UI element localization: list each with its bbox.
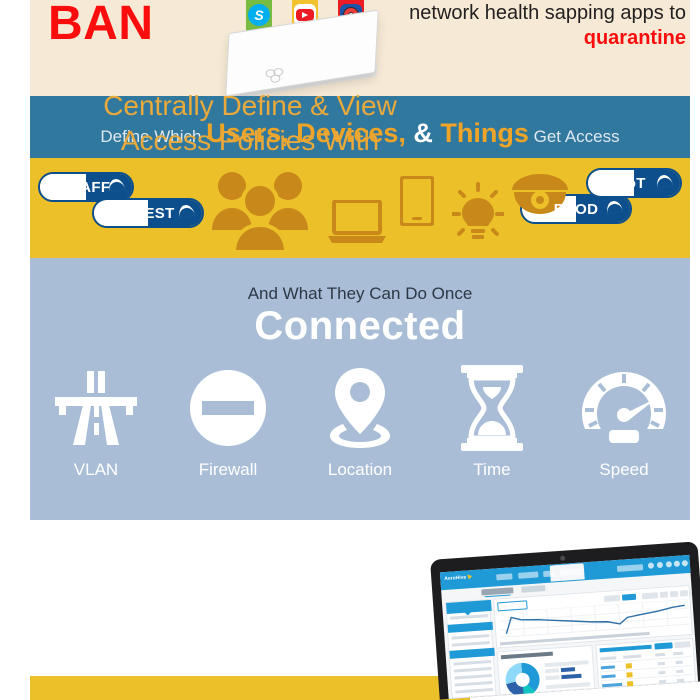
col-header-users [673, 652, 683, 656]
highway-icon [36, 358, 156, 458]
range-7d[interactable] [680, 590, 688, 597]
top-applications-card [595, 638, 696, 689]
bottom-headline-line2: Access Policies With [40, 123, 460, 158]
legend-label [545, 668, 559, 673]
hourglass-icon [432, 358, 552, 458]
map-pin-icon [300, 358, 420, 458]
app-groups-donut-chart [504, 662, 540, 698]
laptop-dashboard: AeroHive [430, 541, 700, 699]
people-group-icon [208, 168, 312, 252]
sidebar-row[interactable] [455, 688, 493, 694]
search-icon[interactable] [648, 562, 654, 568]
col-header-app-usage [623, 655, 641, 659]
quarantine-highlight: quarantine [356, 26, 686, 51]
sidebar-section-header[interactable] [448, 622, 493, 633]
bottom-gold-bar [30, 676, 470, 700]
ban-heading: BAN [48, 0, 154, 54]
sidebar-row[interactable] [450, 614, 488, 620]
donut-hole [515, 672, 530, 687]
dashboard-brand: AeroHive [444, 574, 472, 582]
sidebar-row[interactable] [454, 667, 492, 673]
policy-vlan-label: VLAN [36, 460, 156, 480]
speedometer-icon [564, 358, 684, 458]
policy-location-label: Location [300, 460, 420, 480]
ban-section: BAN productive apps, and sending network… [30, 0, 690, 96]
badge-staff[interactable]: STAFF [38, 172, 134, 202]
cell-clients [658, 671, 665, 674]
no-entry-icon [168, 358, 288, 458]
nav-item-dashboard[interactable] [588, 566, 612, 574]
infographic-page: BAN productive apps, and sending network… [0, 0, 700, 700]
table-toggle-chart[interactable] [654, 642, 672, 649]
connected-headline: Connected [30, 304, 690, 349]
badge-iot[interactable]: IoT [586, 168, 682, 198]
col-header-application [600, 656, 616, 660]
tab-my-reports[interactable] [521, 585, 545, 593]
cell-clients [659, 680, 666, 683]
gear-icon[interactable] [657, 562, 663, 568]
ban-paragraph: productive apps, and sending network hea… [356, 0, 686, 51]
access-point-top [225, 9, 378, 96]
policy-speed[interactable]: Speed [564, 358, 684, 480]
card-title-top-applications [600, 645, 652, 653]
cell-users [676, 661, 683, 664]
sidebar-header-filter[interactable] [446, 600, 492, 614]
cell-clients [658, 662, 665, 665]
connected-band: And What They Can Do Once Connected VLAN [30, 258, 690, 520]
range-24h[interactable] [670, 591, 678, 598]
cell-app-name [601, 665, 615, 669]
lightbulb-icon [452, 182, 504, 242]
traffic-sparkline [499, 599, 690, 638]
sidebar-row[interactable] [451, 634, 489, 640]
youtube-icon-play [302, 12, 308, 18]
sidebar-section-header[interactable] [449, 648, 494, 659]
cell-users [677, 679, 684, 682]
bell-icon[interactable] [674, 561, 680, 567]
define-suffix: Get Access [529, 127, 620, 146]
bottom-headline-line1: Centrally Define & View [40, 88, 460, 123]
sort-label [604, 595, 620, 602]
laptop-icon [328, 200, 386, 244]
legend-row [546, 682, 590, 689]
cell-usage-bar [626, 672, 632, 677]
legend-label [545, 675, 559, 680]
policy-firewall[interactable]: Firewall [168, 358, 288, 480]
card-title-app-groups [501, 652, 553, 660]
sort-select[interactable] [622, 594, 636, 601]
policy-speed-label: Speed [564, 460, 684, 480]
policy-time-label: Time [432, 460, 552, 480]
sidebar-row[interactable] [452, 641, 490, 647]
legend-bar [561, 674, 581, 679]
col-header-clients [655, 653, 665, 657]
date-range-label [642, 592, 658, 599]
badge-byod[interactable]: BYOD [520, 194, 632, 224]
cell-users [676, 670, 683, 673]
connected-subtitle: And What They Can Do Once [30, 284, 690, 304]
sidebar-row[interactable] [453, 660, 491, 666]
tablet-icon [400, 176, 434, 226]
policy-firewall-label: Firewall [168, 460, 288, 480]
cell-usage-bar [626, 663, 632, 668]
legend-row [544, 660, 588, 667]
ban-paragraph-line2: network health sapping apps to [356, 1, 686, 26]
sidebar-row[interactable] [454, 674, 492, 680]
nav-item-home[interactable] [496, 573, 512, 580]
cell-usage-bar [627, 681, 633, 686]
policy-icons-row: VLAN Firewall [30, 358, 690, 498]
bottom-headline: Centrally Define & View Access Policies … [40, 88, 460, 158]
help-icon[interactable] [666, 561, 672, 567]
policy-vlan[interactable]: VLAN [36, 358, 156, 480]
sidebar-row[interactable] [455, 681, 493, 687]
policy-time[interactable]: Time [432, 358, 552, 480]
nav-item-monitor[interactable] [518, 571, 538, 578]
nav-item-plan[interactable] [543, 570, 555, 577]
nav-item-troubleshoot[interactable] [617, 564, 643, 572]
table-toggle-list[interactable] [674, 641, 690, 648]
top-application-groups-card [497, 645, 596, 696]
user-icon[interactable] [682, 560, 688, 566]
legend-bar [561, 667, 575, 672]
cell-app-name [602, 683, 622, 687]
filter-pin-icon [460, 601, 474, 615]
devices-band: STAFF GUEST BYOD IoT [30, 158, 690, 258]
cell-app-name [601, 674, 615, 678]
dashboard-sidebar [445, 599, 497, 699]
badge-guest[interactable]: GUEST [92, 198, 204, 228]
policy-location[interactable]: Location [300, 358, 420, 480]
dashboard-screen: AeroHive [440, 555, 698, 699]
range-1h[interactable] [660, 591, 668, 598]
brand-mark-icon [467, 574, 472, 579]
